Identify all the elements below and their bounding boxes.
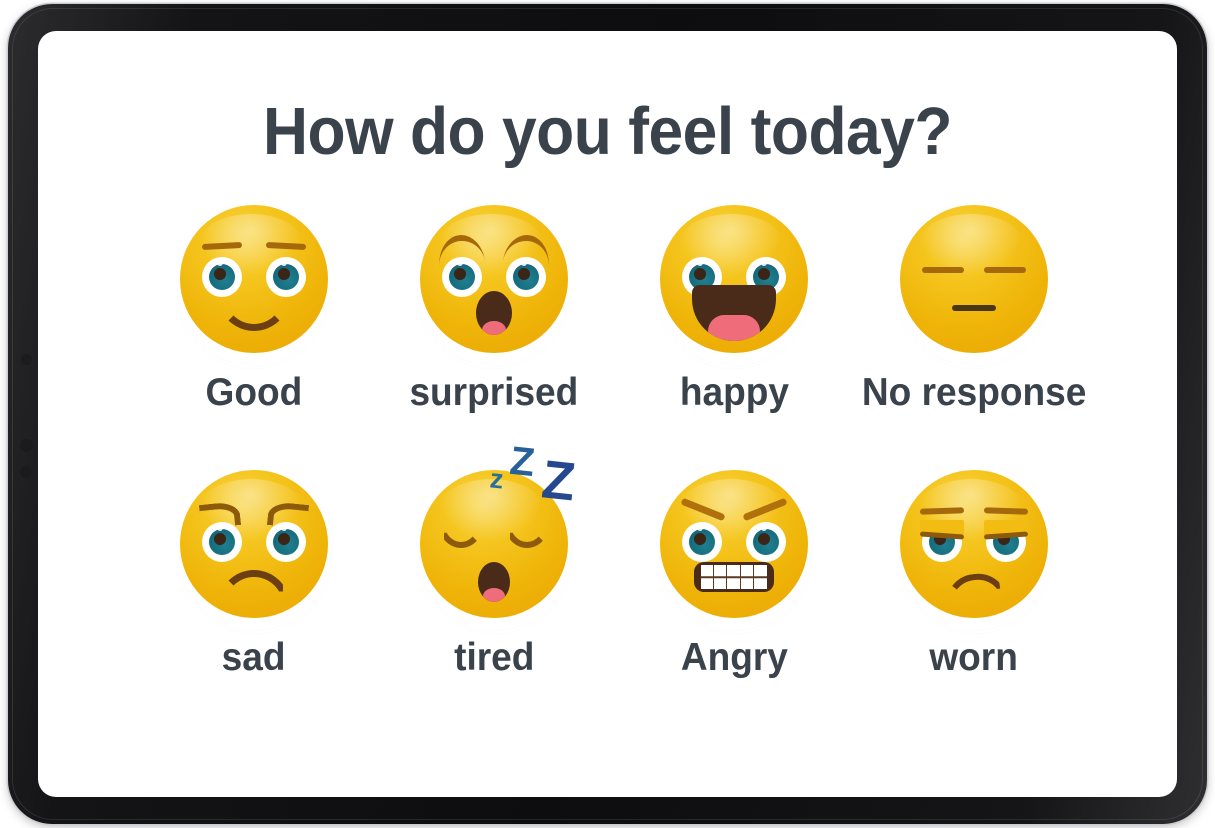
eye-highlight bbox=[697, 525, 703, 531]
eyebrow-right bbox=[742, 498, 787, 522]
tooth bbox=[754, 565, 767, 589]
tooth bbox=[727, 565, 740, 589]
eye-highlight bbox=[281, 260, 287, 266]
mood-option-happy[interactable]: happy bbox=[614, 201, 854, 436]
flat-mouth bbox=[952, 305, 996, 311]
pupil-left bbox=[214, 268, 226, 280]
weary-face-icon[interactable] bbox=[894, 466, 1054, 634]
face-disc bbox=[900, 205, 1048, 353]
sad-face-icon[interactable] bbox=[174, 466, 334, 634]
eye-right bbox=[746, 522, 786, 562]
eyebrow-right bbox=[984, 507, 1028, 515]
mood-label: surprised bbox=[410, 373, 579, 414]
iris-right bbox=[753, 529, 779, 555]
mood-option-surprised[interactable]: surprised bbox=[374, 201, 614, 436]
face-disc bbox=[180, 205, 328, 353]
pupil-right bbox=[758, 533, 770, 545]
closed-eye-left bbox=[922, 267, 964, 273]
pupil-left bbox=[454, 268, 466, 280]
eye-right bbox=[506, 257, 546, 297]
open-mouth bbox=[478, 562, 510, 602]
eye-highlight bbox=[457, 260, 463, 266]
tablet-device-frame: How do you feel today? bbox=[8, 4, 1207, 824]
zzz-small: z bbox=[489, 465, 505, 493]
eye-right bbox=[266, 522, 306, 562]
frown-mouth bbox=[218, 570, 290, 608]
iris-right bbox=[273, 529, 299, 555]
mood-option-angry[interactable]: Angry bbox=[614, 466, 854, 701]
mood-label: tired bbox=[454, 638, 534, 679]
eye-left bbox=[442, 257, 482, 297]
tongue bbox=[708, 315, 760, 341]
teeth-row bbox=[701, 565, 767, 589]
mood-option-no-response[interactable]: No response bbox=[854, 201, 1094, 436]
pupil-right bbox=[278, 268, 290, 280]
grinning-face-icon[interactable] bbox=[654, 201, 814, 369]
pupil-right bbox=[758, 268, 770, 280]
speaker-hole-icon bbox=[20, 466, 32, 478]
pupil-left bbox=[694, 268, 706, 280]
tongue bbox=[483, 588, 505, 602]
iris-left bbox=[689, 529, 715, 555]
smile-mouth bbox=[218, 287, 290, 331]
smiling-face-icon[interactable] bbox=[174, 201, 334, 369]
face-disc bbox=[900, 470, 1048, 618]
iris-left bbox=[209, 529, 235, 555]
angry-face-icon[interactable] bbox=[654, 466, 814, 634]
mood-option-worn[interactable]: worn bbox=[854, 466, 1094, 701]
eye-highlight bbox=[217, 260, 223, 266]
page-title: How do you feel today? bbox=[78, 93, 1137, 170]
tablet-screen: How do you feel today? bbox=[38, 31, 1177, 797]
tooth bbox=[741, 565, 754, 589]
pupil-left bbox=[214, 533, 226, 545]
mood-label: No response bbox=[862, 373, 1086, 414]
eye-left bbox=[202, 522, 242, 562]
front-camera-icon bbox=[21, 354, 32, 365]
speaker-hole-icon bbox=[20, 439, 33, 452]
mood-label: Angry bbox=[680, 638, 787, 679]
iris-left bbox=[449, 264, 475, 290]
face-disc bbox=[180, 470, 328, 618]
mood-label: happy bbox=[679, 373, 788, 414]
mood-option-tired[interactable]: z Z Z tired bbox=[374, 466, 614, 701]
mood-options-grid: Good bbox=[134, 201, 1094, 701]
pupil-left bbox=[694, 533, 706, 545]
mood-label: sad bbox=[222, 638, 286, 679]
pupil-right bbox=[518, 268, 530, 280]
eye-left bbox=[682, 522, 722, 562]
mood-label: Good bbox=[206, 373, 303, 414]
eye-highlight bbox=[697, 260, 703, 266]
closed-eye-right bbox=[984, 267, 1026, 273]
face-disc bbox=[420, 205, 568, 353]
closed-eyelid-right bbox=[504, 522, 550, 548]
tongue bbox=[482, 321, 506, 335]
proximity-sensor-icon bbox=[22, 417, 30, 425]
eye-highlight bbox=[761, 525, 767, 531]
eye-highlight bbox=[521, 260, 527, 266]
sleep-zzz-icon: z Z Z bbox=[490, 424, 600, 500]
zzz-large: Z bbox=[539, 452, 577, 509]
expressionless-face-icon[interactable] bbox=[894, 201, 1054, 369]
sleeping-face-icon[interactable]: z Z Z bbox=[414, 466, 574, 634]
surprised-face-icon[interactable] bbox=[414, 201, 574, 369]
face-disc bbox=[660, 205, 808, 353]
wavy-frown-mouth bbox=[942, 570, 1008, 608]
mood-option-sad[interactable]: sad bbox=[134, 466, 374, 701]
light-sensor-icon bbox=[24, 392, 29, 397]
eye-highlight bbox=[217, 525, 223, 531]
mood-label: worn bbox=[930, 638, 1019, 679]
mood-survey-page: How do you feel today? bbox=[38, 31, 1177, 797]
mood-option-good[interactable]: Good bbox=[134, 201, 374, 436]
gritted-teeth-mouth bbox=[694, 562, 774, 592]
eye-highlight bbox=[761, 260, 767, 266]
open-smile-mouth bbox=[692, 285, 776, 341]
eye-highlight bbox=[281, 525, 287, 531]
screenshot-root: How do you feel today? bbox=[0, 0, 1215, 828]
iris-right bbox=[513, 264, 539, 290]
pupil-right bbox=[278, 533, 290, 545]
tooth bbox=[701, 565, 714, 589]
zzz-medium: Z bbox=[508, 441, 536, 483]
eyebrow-right bbox=[266, 242, 306, 250]
eyebrow-left bbox=[920, 507, 964, 515]
open-mouth bbox=[476, 291, 512, 335]
tooth bbox=[714, 565, 727, 589]
face-disc bbox=[660, 470, 808, 618]
eyebrow-left bbox=[202, 242, 242, 250]
eyebrow-left bbox=[680, 498, 725, 522]
closed-eyelid-left bbox=[438, 522, 484, 548]
